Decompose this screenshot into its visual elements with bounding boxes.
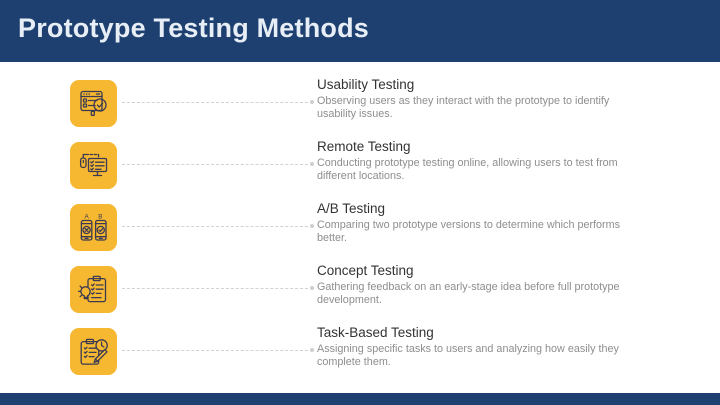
connector-dot (310, 224, 314, 228)
list-item[interactable]: A B A/B Testi (0, 204, 720, 266)
svg-text:B: B (98, 213, 102, 220)
slide-root: Prototype Testing Methods (0, 0, 720, 405)
item-title: Task-Based Testing (317, 324, 647, 342)
item-text: Remote Testing Conducting prototype test… (317, 138, 647, 182)
item-text: Task-Based Testing Assigning specific ta… (317, 324, 647, 368)
connector-dot (310, 348, 314, 352)
list-item[interactable]: Task-Based Testing Assigning specific ta… (0, 328, 720, 390)
item-description: Gathering feedback on an early-stage ide… (317, 281, 642, 306)
mobile-monitor-checklist-icon (70, 142, 117, 189)
list-item[interactable]: Concept Testing Gathering feedback on an… (0, 266, 720, 328)
item-text: Usability Testing Observing users as the… (317, 76, 647, 120)
item-description: Conducting prototype testing online, all… (317, 157, 642, 182)
item-text: A/B Testing Comparing two prototype vers… (317, 200, 647, 244)
list-item[interactable]: Remote Testing Conducting prototype test… (0, 142, 720, 204)
connector-dot (310, 100, 314, 104)
item-title: Concept Testing (317, 262, 647, 280)
checklist-magnifier-icon (70, 80, 117, 127)
item-title: Usability Testing (317, 76, 647, 94)
item-description: Assigning specific tasks to users and an… (317, 343, 642, 368)
svg-text:A: A (84, 213, 89, 220)
footer-bar (0, 393, 720, 405)
connector-line (122, 288, 308, 289)
item-description: Comparing two prototype versions to dete… (317, 219, 642, 244)
connector-line (122, 164, 308, 165)
connector-dot (310, 162, 314, 166)
connector-line (122, 226, 308, 227)
item-description: Observing users as they interact with th… (317, 95, 642, 120)
clipboard-pencil-clock-icon (70, 328, 117, 375)
connector-line (122, 350, 308, 351)
item-title: A/B Testing (317, 200, 647, 218)
connector-line (122, 102, 308, 103)
clipboard-lightbulb-icon (70, 266, 117, 313)
item-title: Remote Testing (317, 138, 647, 156)
list-item[interactable]: Usability Testing Observing users as the… (0, 80, 720, 142)
ab-phones-icon: A B (70, 204, 117, 251)
methods-list: Usability Testing Observing users as the… (0, 62, 720, 393)
item-text: Concept Testing Gathering feedback on an… (317, 262, 647, 306)
connector-dot (310, 286, 314, 290)
page-title: Prototype Testing Methods (18, 13, 369, 44)
